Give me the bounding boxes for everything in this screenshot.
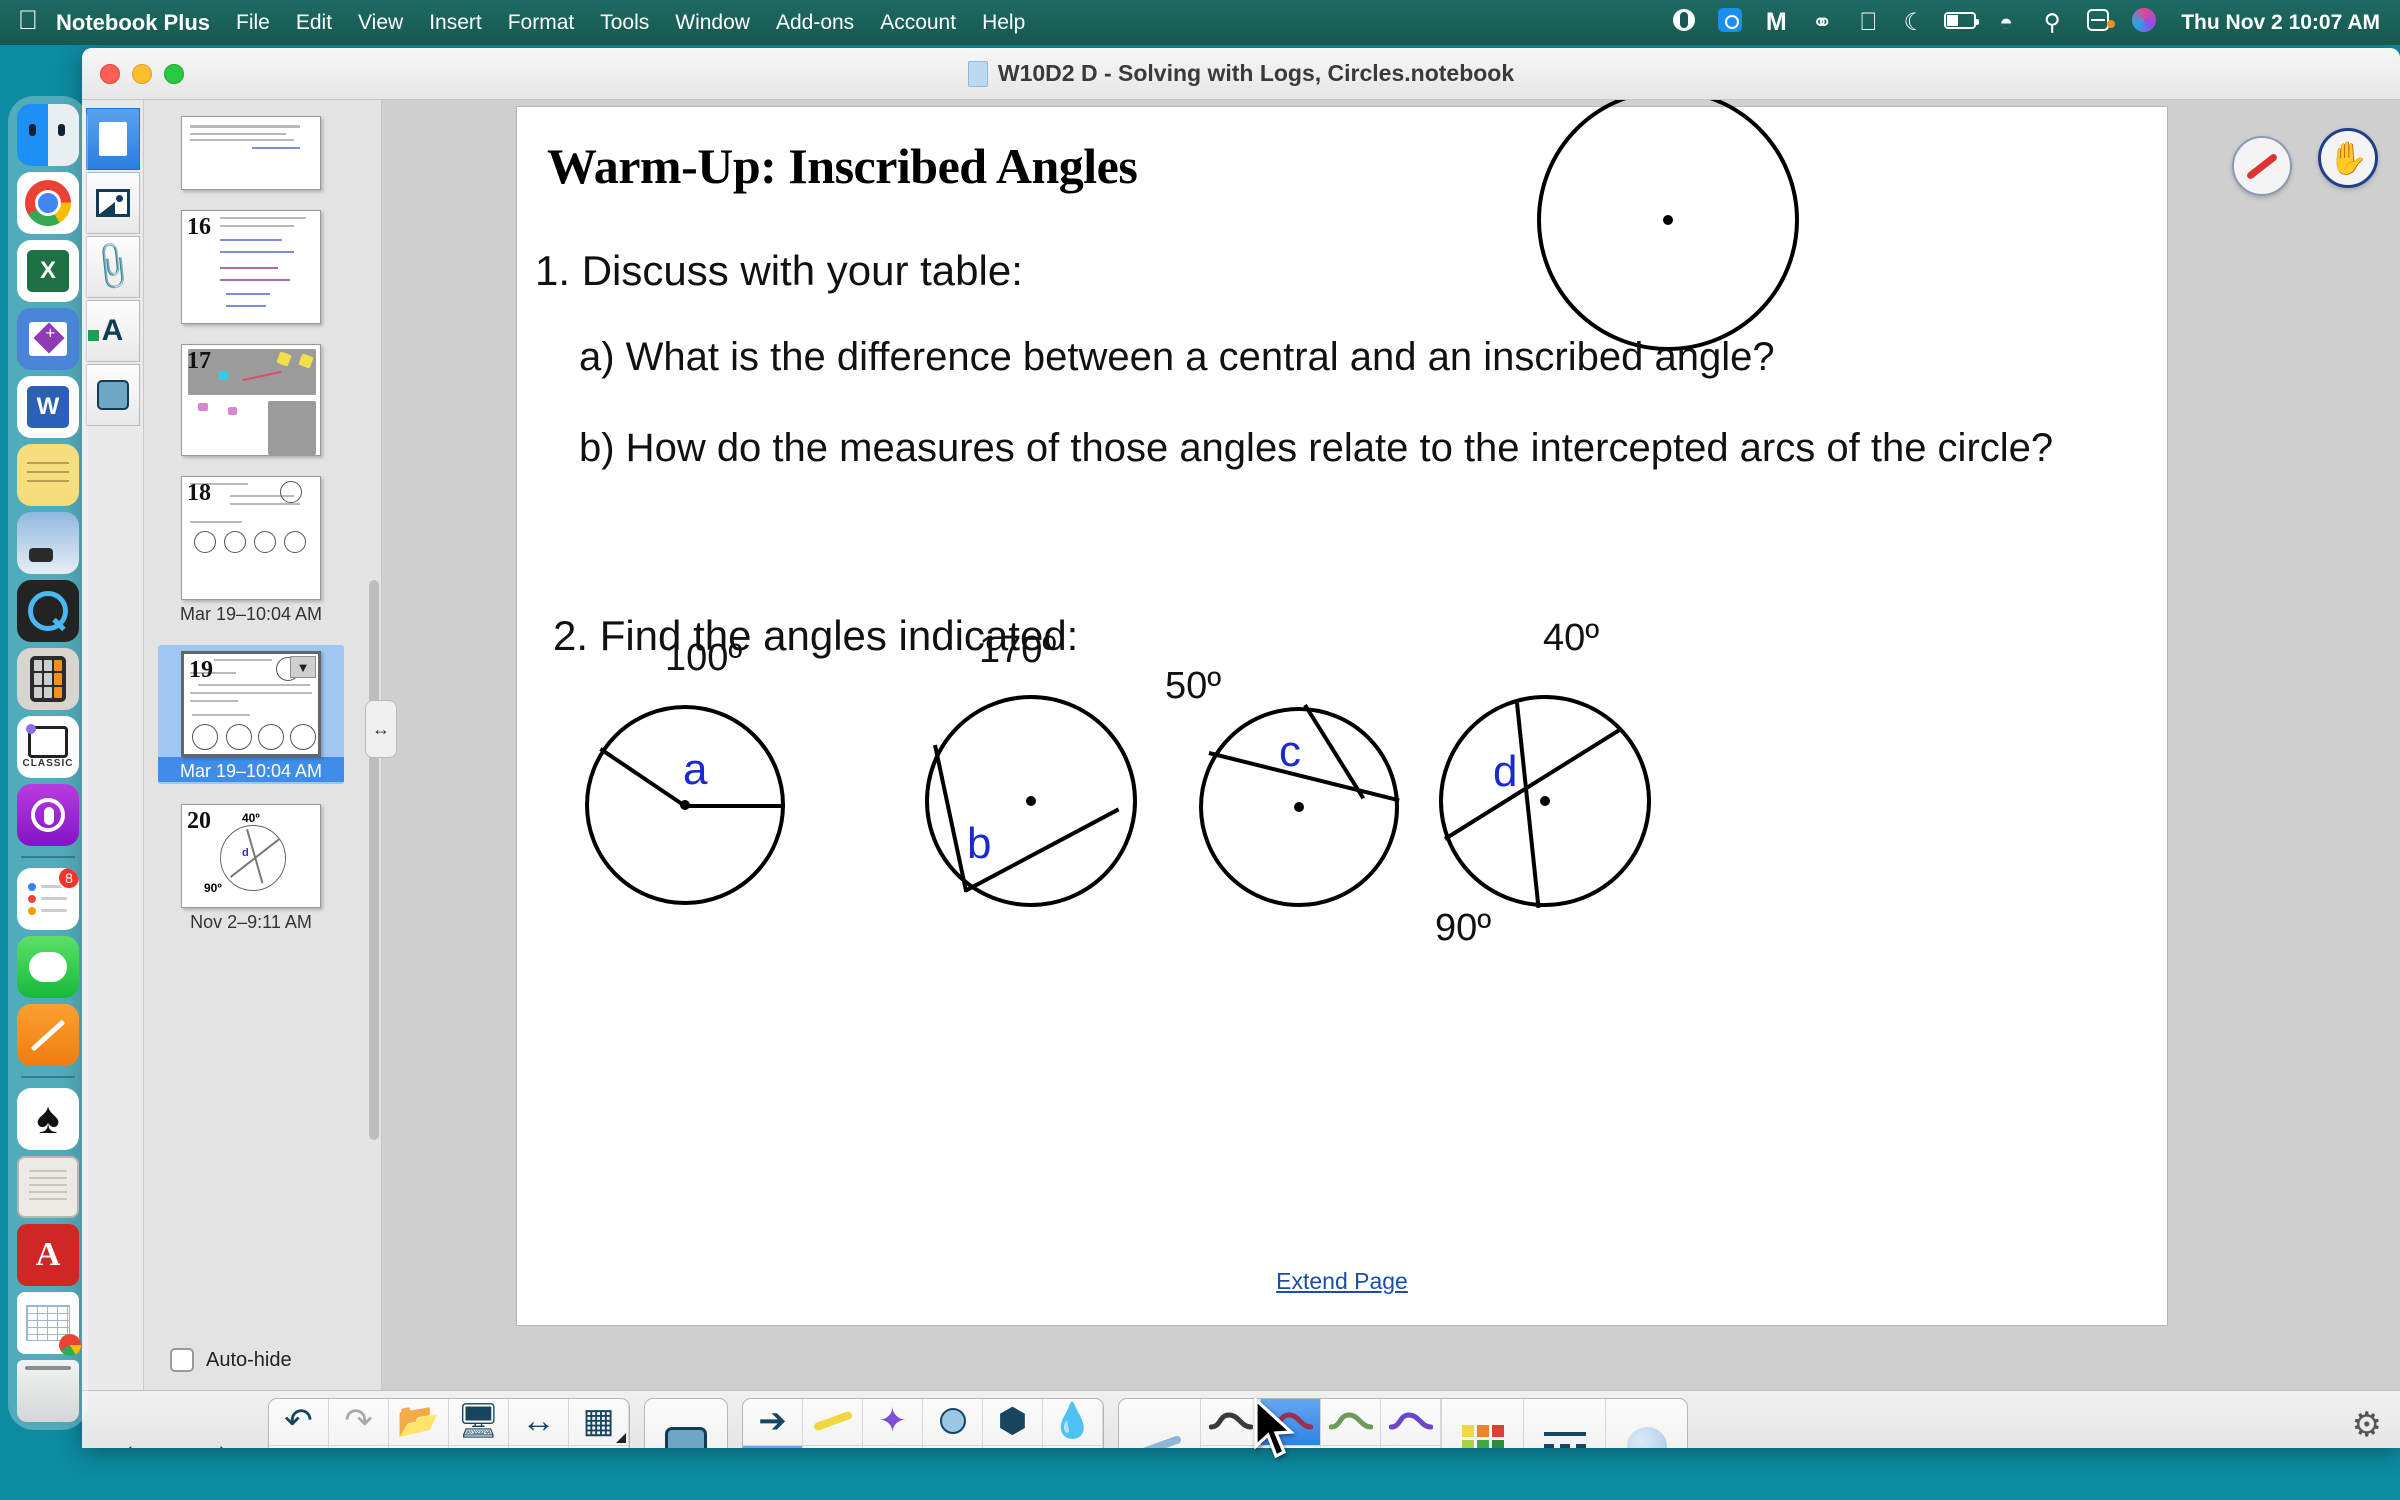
paperclip-icon: 📎 <box>85 241 139 293</box>
highlighter-tool[interactable] <box>803 1398 863 1446</box>
pointer-icon: ➔ <box>758 1404 787 1438</box>
do-not-disturb-moon-icon[interactable]: ☾ <box>1891 8 1937 37</box>
figure-d-arc-label: 40º <box>1543 617 1599 660</box>
table-button[interactable]: ▦ <box>569 1398 629 1446</box>
page-sorter-panel: 16 17 <box>144 100 382 1390</box>
arrow-right-icon: → <box>195 1423 235 1448</box>
sidebar-resize-handle-icon[interactable]: ↔ <box>365 700 397 758</box>
menu-item-edit[interactable]: Edit <box>296 11 332 35</box>
siri-icon[interactable] <box>2121 8 2167 38</box>
thumbnail-number: 19 <box>189 657 213 684</box>
pen-icon <box>2246 152 2279 180</box>
stroke-plum[interactable] <box>1201 1446 1261 1449</box>
extend-page-link[interactable]: Extend Page <box>517 1268 2167 1295</box>
page-icon <box>99 122 127 156</box>
highlighter-icon <box>812 1410 852 1431</box>
screen-capture-icon[interactable] <box>1707 8 1753 38</box>
dock-item-podcasts[interactable] <box>17 784 79 846</box>
polygon-tool[interactable]: ⬢ <box>983 1398 1043 1446</box>
dock-separator-2 <box>21 1076 75 1078</box>
thumbnail-scrollbar[interactable] <box>369 580 379 1140</box>
clear-ink-button[interactable]: ✎ <box>569 1446 629 1449</box>
page-width-button[interactable]: ↔ <box>509 1398 569 1446</box>
thumbnail-item[interactable]: 17 <box>158 344 344 456</box>
image-icon <box>96 189 130 217</box>
dock-item-calculator[interactable] <box>17 648 79 710</box>
menu-item-window[interactable]: Window <box>675 11 750 35</box>
stroke-magenta[interactable] <box>1321 1446 1381 1449</box>
malwarebytes-icon[interactable]: M <box>1753 8 1799 37</box>
dock-item-finder[interactable] <box>17 104 79 166</box>
save-button[interactable]: 💾 <box>389 1446 449 1449</box>
dock: X W CLASSIC 8 ♠ A <box>8 96 88 1430</box>
dock-item-chrome[interactable] <box>17 172 79 234</box>
drawing-tools-group: ➔ ✦ ⬢ 💧 A ↗ ◆ <box>742 1398 1104 1449</box>
dock-item-pdf-folder[interactable]: A <box>17 1224 79 1286</box>
dock-item-text-editor[interactable] <box>17 1004 79 1066</box>
question-1a: a) What is the difference between a cent… <box>579 335 1775 380</box>
previous-page-button[interactable]: ← <box>98 1398 176 1449</box>
reminders-badge: 8 <box>57 868 79 890</box>
figure-c-arc-label: 50º <box>1165 665 1221 708</box>
window-body: 📎 A <box>82 100 2400 1390</box>
thumbnail-list[interactable]: 16 17 <box>144 100 381 1322</box>
pen-preview-icon <box>1137 1434 1181 1448</box>
dock-item-excel[interactable]: X <box>17 240 79 302</box>
question-1b: b) How do the measures of those angles r… <box>579 423 2099 474</box>
bottom-toolbar: ← → ↶ ↷ 📂 🖥 ↔ ▦ ✚ ✖ 💾 ◫ ◤ ✎ <box>82 1390 2400 1448</box>
open-file-button[interactable]: 📂 <box>389 1398 449 1446</box>
dock-label-geogebra: CLASSIC <box>23 758 74 769</box>
nav-group: ← → <box>98 1398 254 1449</box>
stroke-icon <box>1209 1410 1253 1432</box>
add-page-button[interactable]: ✚ <box>269 1446 329 1449</box>
auto-hide-row[interactable]: Auto-hide <box>144 1348 382 1372</box>
thumbnail-label-selected: Mar 19–10:04 AM <box>158 757 344 782</box>
stroke-icon <box>1329 1410 1373 1432</box>
text-tool[interactable]: A <box>863 1446 923 1449</box>
document-icon <box>968 61 988 87</box>
figure-a-radius-1 <box>685 804 785 808</box>
arrow-left-icon: ← <box>117 1423 157 1448</box>
sidebar-tab-attachments[interactable]: 📎 <box>86 236 140 298</box>
battery-icon[interactable] <box>1937 11 1983 35</box>
stroke-green[interactable] <box>1321 1398 1381 1446</box>
dock-item-word[interactable]: W <box>17 376 79 438</box>
thumbnail-page-20[interactable]: d 40º 90º 20 <box>181 804 321 908</box>
settings-gear-button[interactable]: ⚙ <box>2352 1405 2382 1445</box>
dock-item-messages[interactable] <box>17 936 79 998</box>
thumbnail-page-18[interactable]: 18 <box>181 476 321 600</box>
page-content: Warm-Up: Inscribed Angles 1. Discuss wit… <box>517 107 2167 1325</box>
thumbnail-page-15[interactable] <box>181 116 321 190</box>
dock-item-notebook-plus[interactable] <box>17 308 79 370</box>
thumbnail-label: Nov 2–9:11 AM <box>158 908 344 933</box>
menu-clock[interactable]: Thu Nov 2 10:07 AM <box>2181 11 2380 35</box>
stage-manager-icon[interactable]: ⎕ <box>1845 8 1891 37</box>
figure-top-circle-center <box>1663 215 1673 225</box>
stroke-icon <box>1269 1410 1313 1432</box>
control-center-icon[interactable] <box>2075 9 2121 37</box>
figure-c-variable: c <box>1279 727 1301 777</box>
menu-item-file[interactable]: File <box>236 11 270 35</box>
color-grid-icon <box>1462 1425 1504 1449</box>
puzzle-icon <box>97 380 129 410</box>
page-width-icon: ↔ <box>522 1404 556 1438</box>
notebook-page[interactable]: Warm-Up: Inscribed Angles 1. Discuss wit… <box>516 106 2168 1326</box>
thumbnail-page-16[interactable]: 16 <box>181 210 321 324</box>
dock-item-preview[interactable] <box>17 512 79 574</box>
eraser-tool[interactable]: ◆ <box>1043 1446 1103 1449</box>
search-icon[interactable]: ⚲ <box>2029 9 2075 36</box>
window-title: W10D2 D - Solving with Logs, Circles.not… <box>82 60 2400 87</box>
magic-pen-icon: ✦ <box>878 1404 907 1438</box>
magic-pen-tool[interactable]: ✦ <box>863 1398 923 1446</box>
thumbnail-number: 17 <box>187 348 211 375</box>
thumbnail-number: 18 <box>187 480 211 507</box>
screen-icon: 🖥 <box>457 1404 500 1438</box>
paint-bucket-icon: 💧 <box>1051 1404 1093 1438</box>
delete-page-button[interactable]: ✖ <box>329 1446 389 1449</box>
stroke-purple[interactable] <box>1381 1398 1441 1446</box>
menu-item-help[interactable]: Help <box>982 11 1025 35</box>
menu-item-view[interactable]: View <box>358 11 403 35</box>
polygon-icon: ⬢ <box>998 1404 1028 1438</box>
shape-pen-tool[interactable] <box>923 1446 983 1449</box>
dock-item-reminders[interactable]: 8 <box>17 868 79 930</box>
redo-icon: ↷ <box>344 1404 373 1438</box>
figure-b-variable: b <box>967 819 991 869</box>
menu-bar:  Notebook Plus File Edit View Insert Fo… <box>0 0 2400 45</box>
add-ons-button[interactable] <box>645 1398 727 1449</box>
shape-icon <box>940 1408 966 1434</box>
stroke-orange[interactable] <box>1261 1446 1321 1449</box>
undo-button[interactable]: ↶ <box>269 1398 329 1446</box>
stroke-maroon[interactable] <box>1261 1398 1321 1446</box>
thumbnail-page-17[interactable]: 17 <box>181 344 321 456</box>
sidebar-tab-properties[interactable]: A <box>86 300 140 362</box>
menu-app-name[interactable]: Notebook Plus <box>56 10 210 36</box>
hand-icon: ✋ <box>2328 139 2368 177</box>
transparency-button[interactable] <box>1605 1398 1687 1449</box>
fill-tool[interactable]: 💧 <box>1043 1398 1103 1446</box>
spiral-icon[interactable]: ⚭ <box>1799 8 1845 38</box>
undo-icon: ↶ <box>284 1404 313 1438</box>
menu-item-addons[interactable]: Add-ons <box>776 11 854 35</box>
dock-separator <box>21 856 75 858</box>
table-icon: ▦ <box>582 1404 614 1438</box>
thumbnail-number: 20 <box>187 808 211 835</box>
figure-c-center <box>1294 802 1304 812</box>
thumbnail-number: 16 <box>187 214 211 241</box>
wifi-icon[interactable]: ◓ <box>1983 9 2029 36</box>
hand-tool-float-button[interactable]: ✋ <box>2318 128 2378 188</box>
pen-properties-group <box>1118 1398 1688 1449</box>
dock-item-spreadsheet-chrome[interactable] <box>17 1292 79 1354</box>
figure-top-circle <box>1537 100 1799 351</box>
figure-d-arc-label-2: 90º <box>1435 907 1491 950</box>
thumbnail-item[interactable]: 18 Mar 19–10:04 AM <box>158 476 344 625</box>
text-format-icon: A <box>102 317 124 345</box>
shapes-tool[interactable] <box>923 1398 983 1446</box>
menu-item-tools[interactable]: Tools <box>600 11 649 35</box>
dock-item-scanned-notes[interactable] <box>17 1156 79 1218</box>
folder-open-icon: 📂 <box>397 1404 439 1438</box>
pen-preview[interactable] <box>1119 1398 1201 1449</box>
thumbnail-label: Mar 19–10:04 AM <box>158 600 344 625</box>
next-page-button[interactable]: → <box>176 1398 254 1449</box>
menu-item-account[interactable]: Account <box>880 11 956 35</box>
red-pen-float-button[interactable] <box>2232 136 2292 196</box>
figure-a-variable: a <box>683 745 707 795</box>
thumbnail-item[interactable]: 16 <box>158 210 344 324</box>
line-style-button[interactable] <box>1523 1398 1605 1449</box>
color-palette-button[interactable] <box>1441 1398 1523 1449</box>
full-screen-button[interactable]: 🖥 <box>449 1398 509 1446</box>
stroke-sage[interactable] <box>1381 1446 1441 1449</box>
add-ons-group <box>644 1398 728 1449</box>
menu-item-insert[interactable]: Insert <box>429 11 482 35</box>
sidebar-tab-page-sorter[interactable] <box>86 108 140 170</box>
figure-d-variable: d <box>1493 747 1517 797</box>
window-title-text: W10D2 D - Solving with Logs, Circles.not… <box>998 60 1514 87</box>
line-style-icon <box>1544 1432 1586 1449</box>
thumbnail-item-selected[interactable]: ▼ 19 Mar 19–10:04 AM <box>158 645 344 784</box>
thumbnail-menu-chevron-down-icon[interactable]: ▼ <box>290 656 316 678</box>
file-tools-group: ↶ ↷ 📂 🖥 ↔ ▦ ✚ ✖ 💾 ◫ ◤ ✎ <box>268 1398 630 1449</box>
page-title: Warm-Up: Inscribed Angles <box>547 137 1137 195</box>
line-tool[interactable]: ↗ <box>983 1446 1043 1449</box>
pen-tool[interactable] <box>743 1446 803 1449</box>
sidebar-tab-add-ons[interactable] <box>86 364 140 426</box>
dock-item-spades-game[interactable]: ♠ <box>17 1088 79 1150</box>
stroke-icon <box>1389 1410 1433 1432</box>
transparency-icon <box>1627 1427 1667 1449</box>
dock-item-quicktime[interactable] <box>17 580 79 642</box>
auto-hide-checkbox[interactable] <box>170 1348 194 1372</box>
select-tool[interactable]: ➔ <box>743 1398 803 1446</box>
application-window: W10D2 D - Solving with Logs, Circles.not… <box>82 48 2400 1448</box>
dock-item-geogebra-classic[interactable]: CLASSIC <box>17 716 79 778</box>
redo-button[interactable]: ↷ <box>329 1398 389 1446</box>
thumbnail-page-19[interactable]: ▼ 19 <box>181 651 321 757</box>
menu-item-format[interactable]: Format <box>508 11 575 35</box>
window-title-bar[interactable]: W10D2 D - Solving with Logs, Circles.not… <box>82 48 2400 100</box>
canvas-area[interactable]: Warm-Up: Inscribed Angles 1. Discuss wit… <box>382 100 2400 1390</box>
dock-item-notes[interactable] <box>17 444 79 506</box>
puzzle-icon <box>665 1427 707 1449</box>
screen-shade-button[interactable]: ◫ <box>449 1446 509 1449</box>
measurement-tools-button[interactable]: ◤ <box>509 1446 569 1449</box>
auto-hide-label: Auto-hide <box>206 1349 292 1372</box>
thumbnail-item[interactable] <box>158 116 344 190</box>
figure-a-arc-label: 100º <box>665 637 742 680</box>
stroke-black[interactable] <box>1201 1398 1261 1446</box>
dock-item-trash[interactable] <box>17 1360 79 1422</box>
sidebar-tab-gallery[interactable] <box>86 172 140 234</box>
thumbnail-item[interactable]: d 40º 90º 20 Nov 2–9:11 AM <box>158 804 344 933</box>
record-icon[interactable] <box>1661 9 1707 37</box>
sidebar-tab-rail: 📎 A <box>82 100 144 1390</box>
figure-b-center <box>1026 796 1036 806</box>
figure-d-center <box>1540 796 1550 806</box>
crayon-tool[interactable] <box>803 1446 863 1449</box>
apple-logo-icon[interactable]:  <box>0 7 56 38</box>
question-1: 1. Discuss with your table: <box>535 247 1023 295</box>
figure-b-arc-label: 170º <box>979 629 1056 672</box>
